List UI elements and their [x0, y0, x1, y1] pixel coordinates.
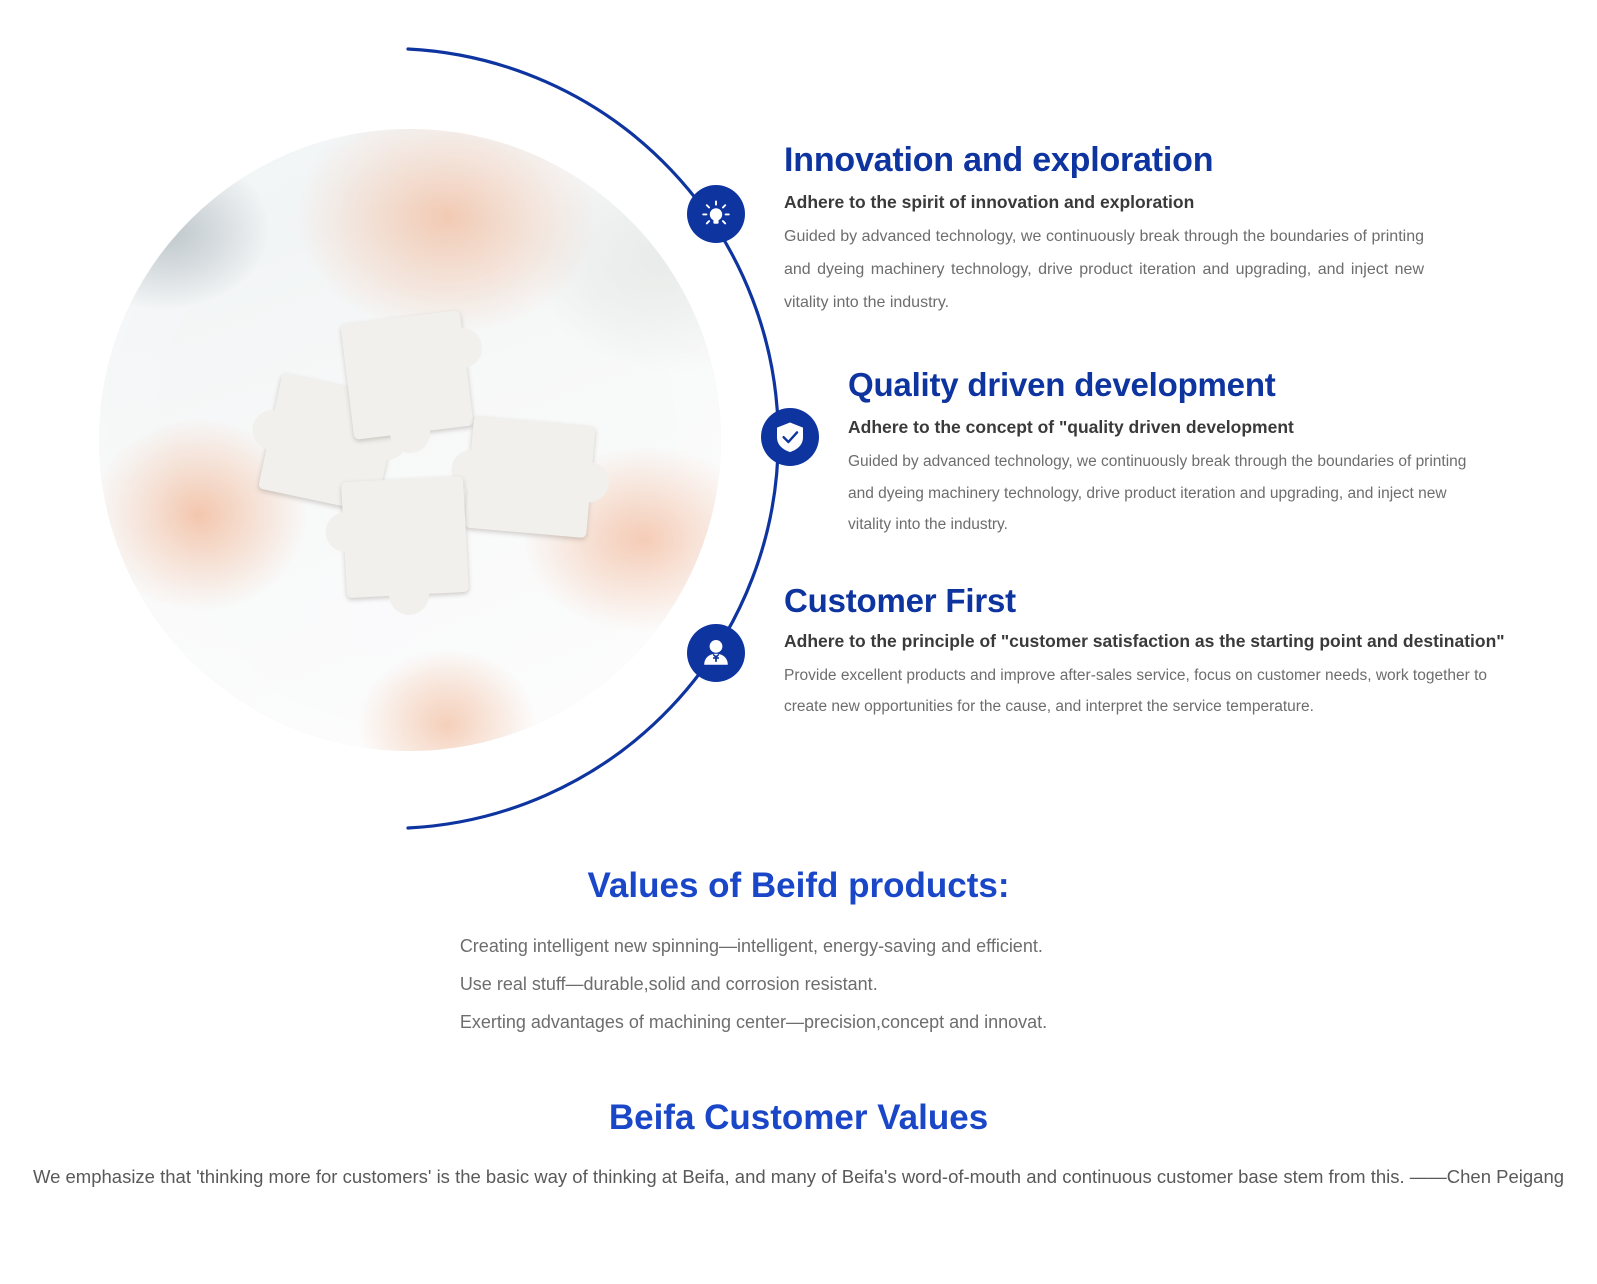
value-title: Customer First [784, 582, 1514, 621]
product-values-list: Creating intelligent new spinning—intell… [460, 928, 1047, 1041]
value-lead: Adhere to the principle of "customer sat… [784, 631, 1514, 652]
value-block-quality: Quality driven development Adhere to the… [848, 366, 1468, 541]
product-values-section: Values of Beifd products: Creating intel… [0, 866, 1597, 1041]
value-body: Guided by advanced technology, we contin… [784, 221, 1424, 319]
customer-values-section: Beifa Customer Values We emphasize that … [0, 1098, 1597, 1188]
customer-values-quote: We emphasize that 'thinking more for cus… [0, 1166, 1597, 1188]
hero-section: Innovation and exploration Adhere to the… [0, 0, 1597, 860]
shield-check-icon [761, 408, 819, 466]
customer-values-title: Beifa Customer Values [0, 1098, 1597, 1138]
photo-vignette [99, 129, 721, 751]
value-block-innovation: Innovation and exploration Adhere to the… [784, 140, 1424, 320]
lightbulb-icon [687, 185, 745, 243]
value-lead: Adhere to the spirit of innovation and e… [784, 192, 1424, 213]
value-lead: Adhere to the concept of "quality driven… [848, 417, 1468, 438]
value-title: Innovation and exploration [784, 140, 1424, 180]
value-block-customer: Customer First Adhere to the principle o… [784, 582, 1514, 722]
list-item: Creating intelligent new spinning—intell… [460, 928, 1047, 966]
product-values-title: Values of Beifd products: [0, 866, 1597, 906]
user-person-icon [687, 624, 745, 682]
value-title: Quality driven development [848, 366, 1468, 405]
value-body: Provide excellent products and improve a… [784, 660, 1514, 722]
value-body: Guided by advanced technology, we contin… [848, 446, 1468, 541]
page-root: Innovation and exploration Adhere to the… [0, 0, 1597, 1284]
list-item: Use real stuff—durable,solid and corrosi… [460, 966, 1047, 1004]
puzzle-photo [99, 129, 721, 751]
list-item: Exerting advantages of machining center—… [460, 1004, 1047, 1042]
